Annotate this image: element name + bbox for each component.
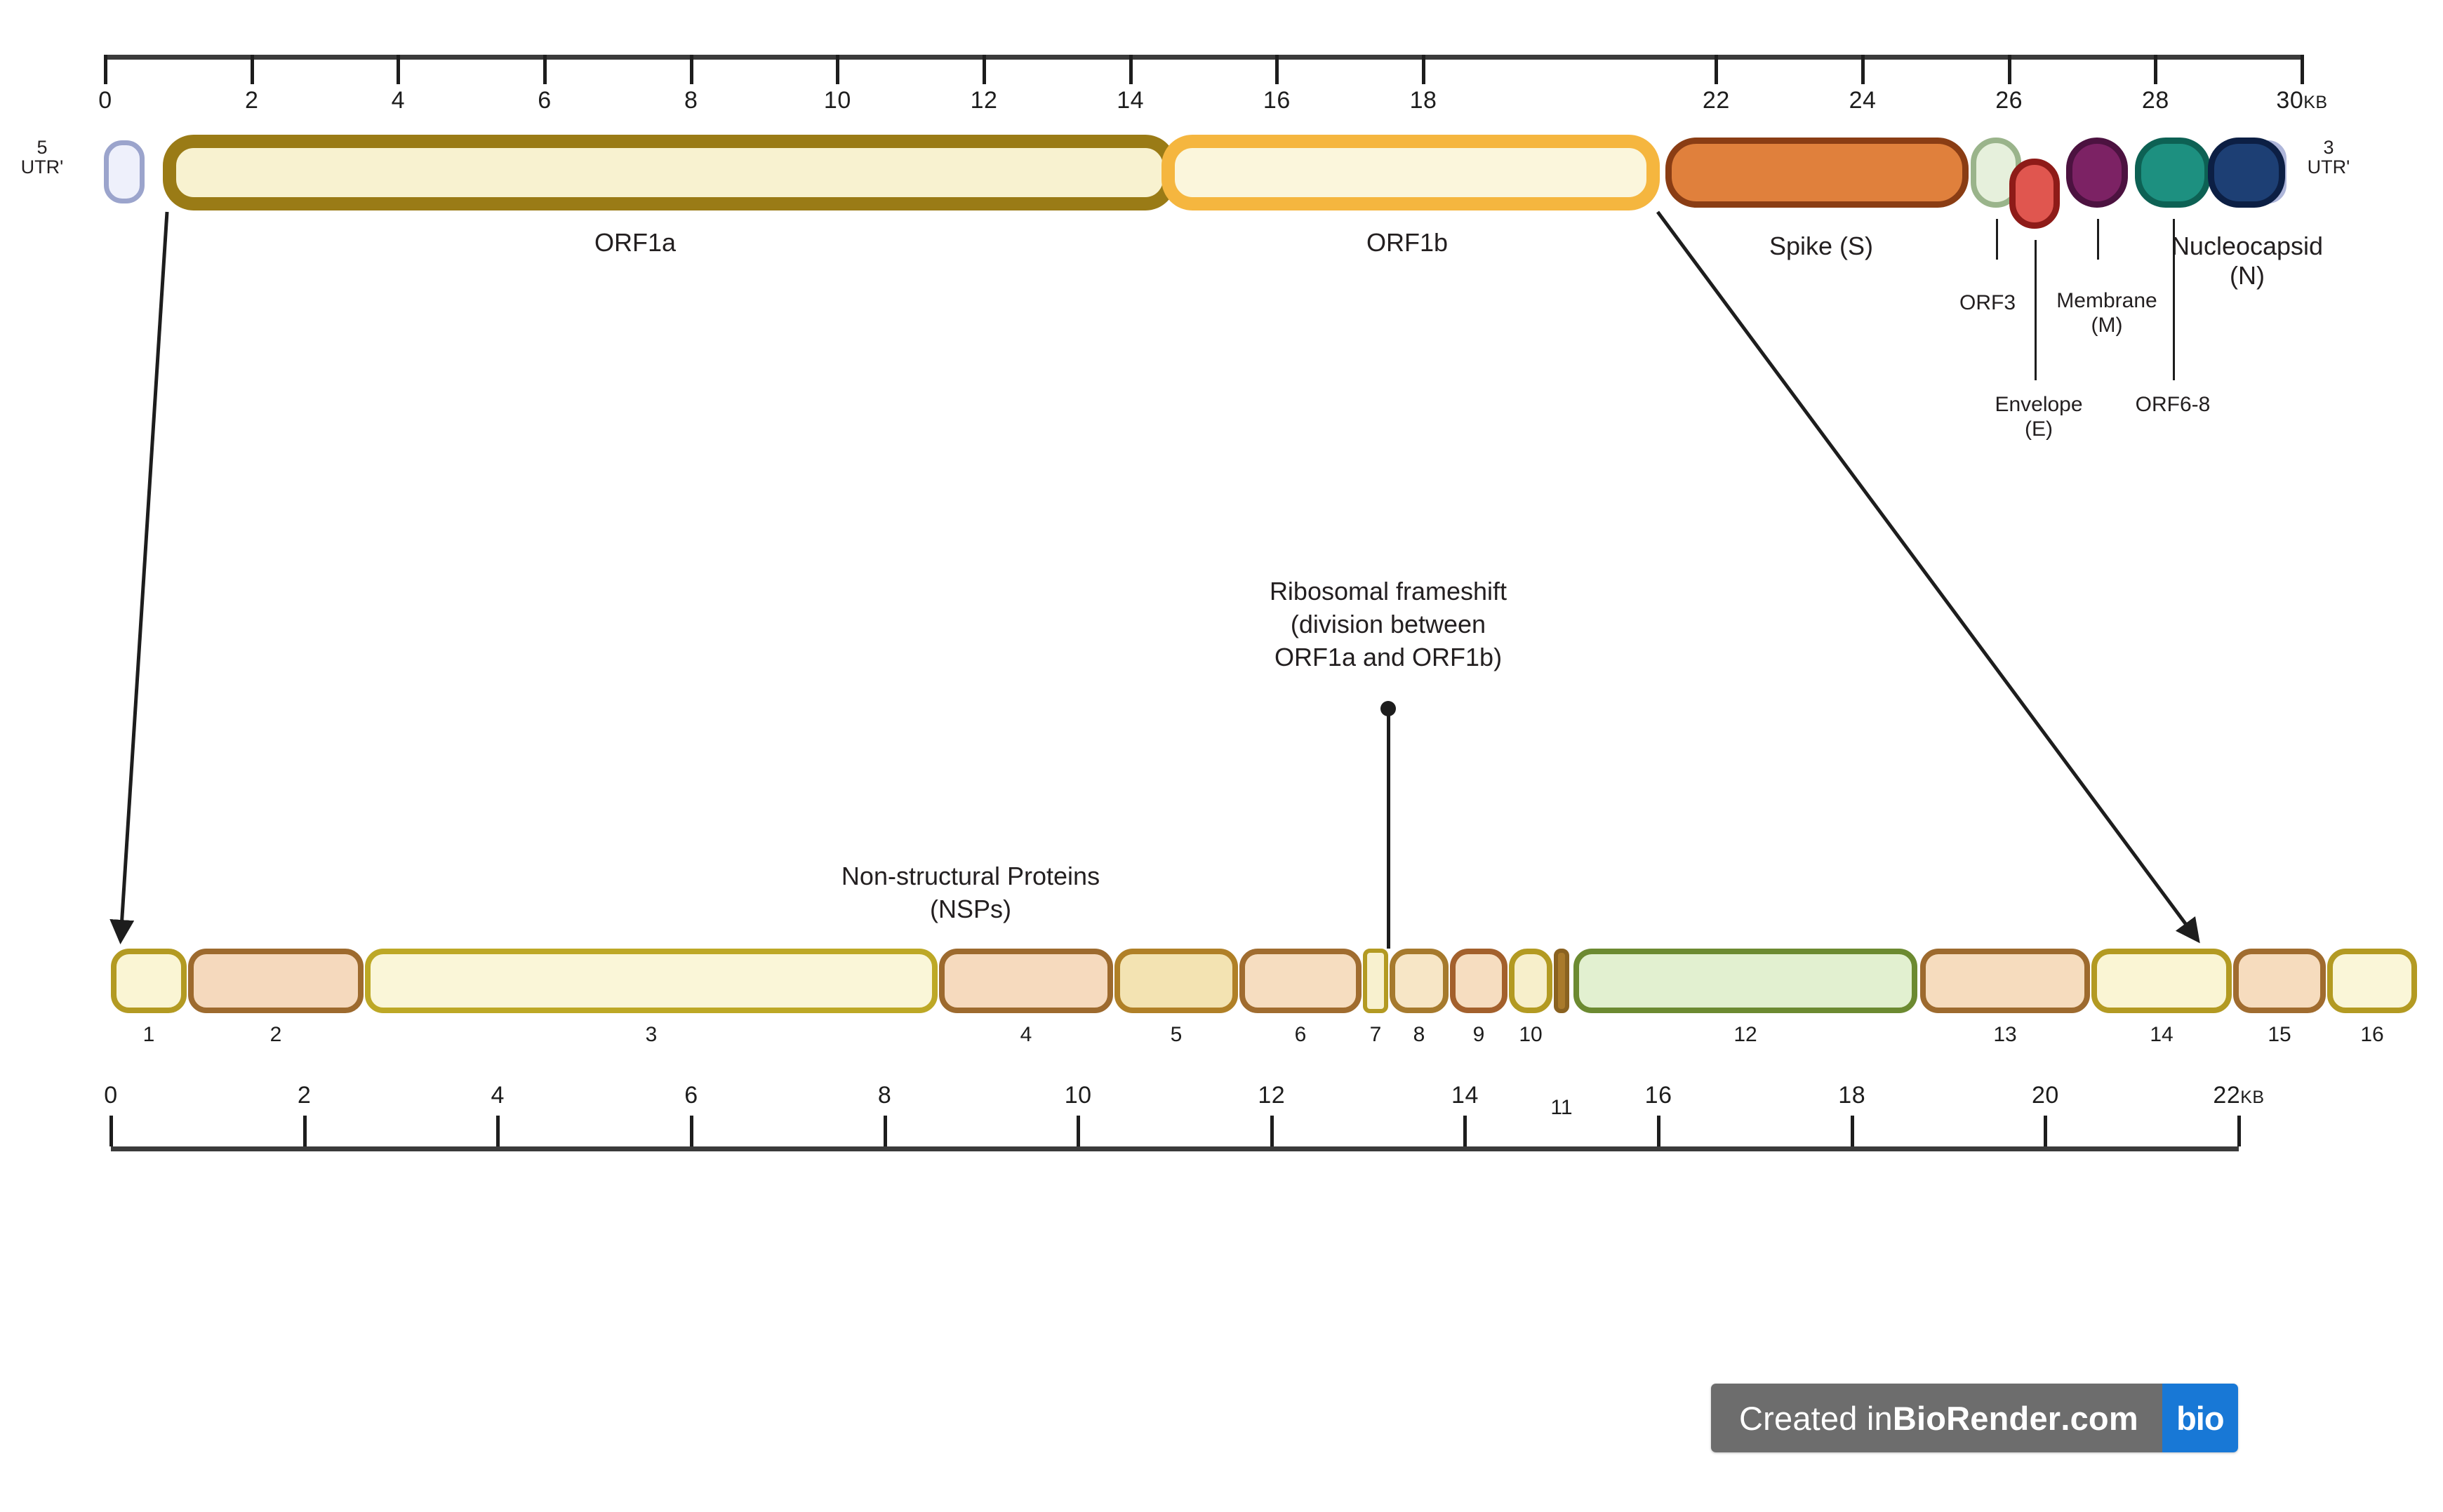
top-axis-tick	[1861, 55, 1865, 84]
top-axis-tick-label: 16	[1263, 87, 1291, 114]
biorender-watermark: Created in BioRender.com bio	[1711, 1384, 2238, 1452]
bottom-axis-tick-label: 6	[684, 1082, 698, 1109]
top-axis-tick	[104, 55, 107, 84]
nsp-13-number: 13	[1993, 1023, 2016, 1047]
frameshift-stem	[1387, 709, 1390, 949]
utr3-label: 3UTR'	[2308, 138, 2350, 178]
top-axis-tick	[1129, 55, 1133, 84]
frameshift-line1: Ribosomal frameshift	[1270, 577, 1507, 606]
nsp-track-title: Non-structural Proteins(NSPs)	[841, 860, 1100, 926]
nsp-3-box	[365, 949, 938, 1013]
bottom-axis-tick-label: 12	[1258, 1082, 1285, 1109]
bottom-axis-tick-label: 8	[878, 1082, 891, 1109]
top-axis-tick	[983, 55, 986, 84]
nsp-5-number: 5	[1171, 1023, 1183, 1047]
gene-label-envelope: Envelope(E)	[1995, 393, 2082, 442]
gene-label-orf6_8: ORF6-8	[2136, 393, 2211, 417]
bottom-axis-tick-label: 18	[1838, 1082, 1865, 1109]
bottom-axis-tick-label: 14	[1451, 1082, 1479, 1109]
nsp-11-box	[1554, 949, 1569, 1013]
nsp-16-box	[2327, 949, 2417, 1013]
orf1a-start-to-nsp1-start	[121, 212, 167, 939]
nsp-1-number: 1	[143, 1023, 155, 1047]
top-axis-tick	[1715, 55, 1718, 84]
nsp-3-number: 3	[646, 1023, 658, 1047]
nsp-9-number: 9	[1473, 1023, 1485, 1047]
top-axis-tick-label: 22	[1703, 87, 1730, 114]
bottom-axis-tick	[884, 1116, 887, 1146]
bottom-axis-tick-label: 20	[2032, 1082, 2059, 1109]
bottom-axis-tick-label: 22KB	[2213, 1082, 2264, 1109]
nsp-12-box	[1573, 949, 1917, 1013]
bottom-axis-tick	[2044, 1116, 2047, 1146]
bottom-axis-tick	[2237, 1116, 2241, 1146]
nsp-title-line1: Non-structural Proteins	[841, 862, 1100, 890]
nsp-10-box	[1509, 949, 1552, 1013]
utr3-digit: 3	[2308, 138, 2350, 157]
top-axis-tick-label: 4	[392, 87, 405, 114]
bottom-axis-tick	[1657, 1116, 1660, 1146]
watermark-suffix: .com	[2061, 1399, 2138, 1438]
top-axis-tick	[690, 55, 693, 84]
bottom-axis-tick	[690, 1116, 693, 1146]
top-axis-tick	[1422, 55, 1425, 84]
nsp-16-number: 16	[2360, 1023, 2383, 1047]
top-axis-tick-label: 0	[98, 87, 112, 114]
utr5-digit: 5	[21, 138, 64, 157]
gene-label-orf1a: ORF1a	[594, 228, 676, 257]
nsp-1-box	[111, 949, 187, 1013]
top-axis-tick	[1275, 55, 1279, 84]
frameshift-line2: (division between	[1291, 610, 1486, 638]
nsp-15-number: 15	[2268, 1023, 2291, 1047]
gene-sublabel-membrane: (M)	[2091, 314, 2123, 337]
top-axis-tick-label: 12	[971, 87, 998, 114]
gene-orf1b	[1161, 135, 1660, 210]
bottom-axis-tick	[1077, 1116, 1080, 1146]
bottom-axis-tick	[109, 1116, 113, 1146]
nsp-11-number: 11	[1550, 1096, 1572, 1120]
leader-orf3	[1996, 219, 1998, 260]
top-axis-tick-label: 14	[1117, 87, 1144, 114]
top-axis-tick	[2008, 55, 2011, 84]
utr5-text: UTR'	[21, 157, 64, 177]
bottom-axis-tick-label: 2	[298, 1082, 311, 1109]
utr3-text: UTR'	[2308, 157, 2350, 177]
top-axis-tick-label: 2	[245, 87, 258, 114]
leader-envelope	[2035, 240, 2037, 380]
gene-envelope	[2009, 159, 2060, 229]
top-axis-tick-label: 18	[1410, 87, 1437, 114]
top-axis-tick-label: 28	[2142, 87, 2169, 114]
biorender-logo-icon: bio	[2162, 1384, 2238, 1452]
gene-label-spike: Spike (S)	[1769, 232, 1873, 261]
gene-label-membrane: Membrane(M)	[2056, 289, 2157, 338]
top-axis-tick-label: 8	[684, 87, 698, 114]
gene-label-nucleocapsid: Nucleocapsid(N)	[2171, 232, 2323, 290]
nsp-4-number: 4	[1020, 1023, 1032, 1047]
bottom-axis-tick	[303, 1116, 307, 1146]
nsp-15-box	[2233, 949, 2326, 1013]
leader-orf6-8	[2173, 219, 2175, 380]
utr5-label: 5UTR'	[21, 138, 64, 178]
gene-orf1a	[163, 135, 1176, 210]
gene-membrane	[2066, 138, 2128, 208]
biorender-text: Created in BioRender.com	[1711, 1384, 2162, 1452]
leader-membrane	[2097, 219, 2099, 260]
bottom-axis-tick	[496, 1116, 500, 1146]
bottom-axis-tick	[1270, 1116, 1274, 1146]
top-axis-tick-label: 30KB	[2276, 87, 2327, 114]
axis-unit-label: KB	[2240, 1088, 2264, 1107]
watermark-prefix: Created in	[1739, 1399, 1893, 1438]
frameshift-label: Ribosomal frameshift(division betweenORF…	[1270, 575, 1507, 674]
nsp-6-box	[1239, 949, 1362, 1013]
nsp-2-number: 2	[270, 1023, 282, 1047]
bottom-axis-line	[111, 1146, 2239, 1151]
nsp-title-line2: (NSPs)	[930, 895, 1011, 923]
top-axis-tick	[543, 55, 547, 84]
gene-sublabel-envelope: (E)	[2025, 417, 2053, 441]
top-axis-tick-label: 24	[1849, 87, 1877, 114]
gene-orf6_8	[2135, 138, 2211, 208]
gene-spike	[1665, 138, 1969, 208]
utr5-box	[104, 140, 145, 203]
nsp-8-box	[1390, 949, 1449, 1013]
frameshift-line3: ORF1a and ORF1b)	[1274, 643, 1502, 671]
top-axis-line	[105, 55, 2302, 60]
watermark-brand: BioRender	[1893, 1399, 2061, 1438]
nsp-12-number: 12	[1733, 1023, 1757, 1047]
nsp-2-box	[188, 949, 364, 1013]
top-axis-tick	[2154, 55, 2157, 84]
gene-sublabel-nucleocapsid: (N)	[2230, 261, 2265, 290]
gene-label-orf1b: ORF1b	[1366, 228, 1448, 257]
nsp-6-number: 6	[1295, 1023, 1307, 1047]
bottom-axis-tick-label: 0	[104, 1082, 117, 1109]
top-axis-tick	[2301, 55, 2304, 84]
nsp-7-box	[1363, 949, 1388, 1013]
nsp-13-box	[1920, 949, 2090, 1013]
bottom-axis-tick	[1463, 1116, 1467, 1146]
nsp-5-box	[1114, 949, 1238, 1013]
top-axis-tick	[836, 55, 839, 84]
nsp-14-number: 14	[2150, 1023, 2173, 1047]
axis-unit-label: KB	[2303, 93, 2327, 112]
top-axis-tick-label: 26	[1995, 87, 2023, 114]
bottom-axis-tick-label: 4	[491, 1082, 505, 1109]
top-axis-tick-label: 6	[538, 87, 551, 114]
nsp-14-box	[2091, 949, 2232, 1013]
bottom-axis-tick-label: 10	[1065, 1082, 1092, 1109]
nsp-4-box	[939, 949, 1113, 1013]
nsp-8-number: 8	[1413, 1023, 1425, 1047]
nsp-10-number: 10	[1519, 1023, 1542, 1047]
top-axis-tick	[251, 55, 254, 84]
bottom-axis-tick-label: 16	[1645, 1082, 1672, 1109]
connector-arrows	[0, 0, 2443, 1512]
nsp-9-box	[1450, 949, 1507, 1013]
bottom-axis-tick	[1851, 1116, 1854, 1146]
top-axis-tick-label: 10	[824, 87, 851, 114]
gene-label-orf3: ORF3	[1959, 291, 2016, 316]
gene-nucleocapsid	[2208, 138, 2285, 208]
top-axis-tick	[397, 55, 400, 84]
nsp-7-number: 7	[1370, 1023, 1382, 1047]
